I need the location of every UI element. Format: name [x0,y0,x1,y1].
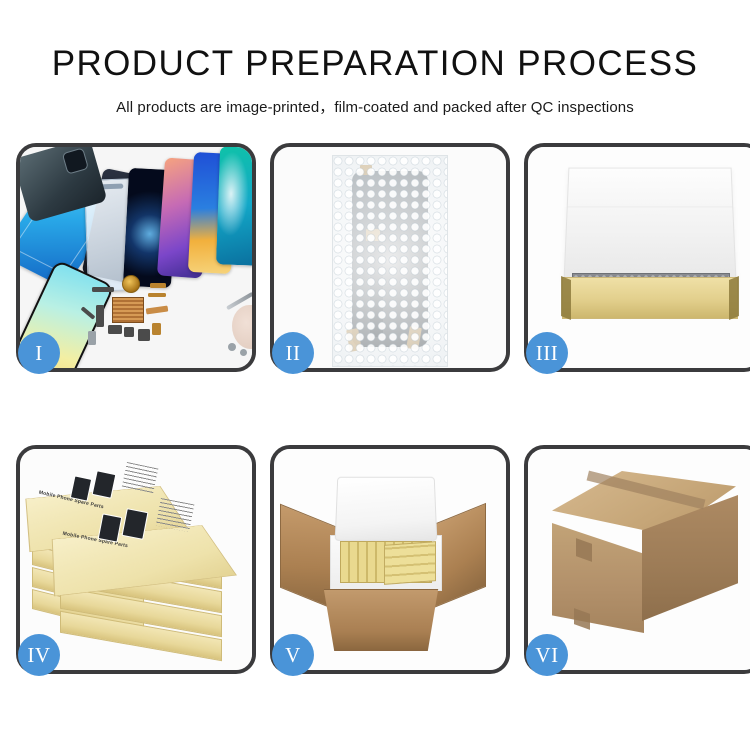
step-image-6 [528,449,750,670]
step-badge-2: II [272,332,314,374]
step-image-4: Mobile Phone Spare Parts Mobile Phone Sp… [20,449,252,670]
speaker-coil-component [122,275,140,293]
step-image-1 [20,147,252,368]
step-image-2 [274,147,506,368]
step-badge-5: V [272,634,314,676]
camera-module-part [138,329,150,341]
logic-board-component [112,297,144,323]
gold-flex-part-2 [148,293,166,297]
page-title: PRODUCT PREPARATION PROCESS [0,44,750,84]
step-panel-5[interactable]: V [270,445,510,674]
header: PRODUCT PREPARATION PROCESS All products… [0,0,750,117]
step-badge-6: VI [526,634,568,676]
small-chip-2 [108,325,122,334]
small-chip-1 [96,305,104,327]
process-step-grid: I II III [16,143,734,674]
gold-contact-part [152,323,161,335]
step-image-3 [528,147,750,368]
step-badge-4: IV [18,634,60,676]
copper-flex-cable [146,305,169,314]
phone-screen-teal [216,147,252,266]
small-chip-3 [124,327,134,337]
styrofoam-box-lid [335,477,438,541]
step-badge-3: III [526,332,568,374]
technician-hand [232,305,252,349]
gold-flex-part [150,283,166,288]
step-badge-1: I [18,332,60,374]
box-stack: Mobile Phone Spare Parts Mobile Phone Sp… [20,449,252,670]
carton-front-panel [316,589,446,651]
step-panel-6[interactable]: VI [524,445,750,674]
carton-left-face [552,523,644,633]
white-foam-lid [563,168,736,284]
yellow-box-tray [562,277,738,319]
screw-part-1 [228,343,236,351]
step-panel-3[interactable]: III [524,143,750,372]
step-image-5 [274,449,506,670]
sim-tray-part [88,331,96,345]
step-panel-4[interactable]: Mobile Phone Spare Parts Mobile Phone Sp… [16,445,256,674]
step-panel-1[interactable]: I [16,143,256,372]
step-panel-2[interactable]: II [270,143,510,372]
bubble-wrap-bag [332,155,448,367]
page-subtitle: All products are image-printed，film-coat… [0,96,750,117]
yellow-packs-row-2 [384,541,436,585]
battery-connector-part [92,287,114,292]
page-root: PRODUCT PREPARATION PROCESS All products… [0,0,750,750]
bubble-texture [333,156,447,366]
screw-part-2 [240,349,247,356]
